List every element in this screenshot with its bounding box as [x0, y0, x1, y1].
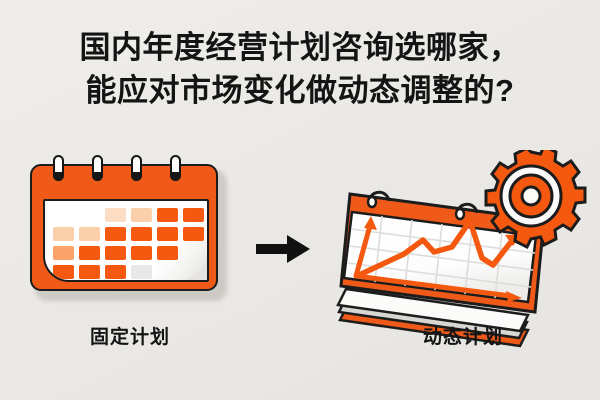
calendar-day-cell	[79, 246, 100, 260]
dynamic-calendar-chart-icon	[330, 150, 592, 350]
headline-line-2: 能应对市场变化做动态调整的?	[0, 69, 600, 112]
calendar-day-cell	[157, 246, 178, 260]
page-title: 国内年度经营计划咨询选哪家， 能应对市场变化做动态调整的?	[0, 26, 600, 112]
gear-icon	[486, 150, 585, 247]
poster-canvas: 国内年度经营计划咨询选哪家， 能应对市场变化做动态调整的? 固定计划	[0, 0, 600, 400]
calendar-day-cell	[79, 265, 100, 279]
calendar-day-cell	[157, 227, 178, 241]
calendar-body	[30, 164, 218, 291]
calendar-day-cell	[105, 265, 126, 279]
fixed-calendar-icon	[30, 164, 222, 295]
right-arrow-icon	[256, 232, 312, 266]
calendar-ring-4	[170, 155, 181, 181]
calendar-day-cell	[131, 265, 152, 279]
calendar-day-cell	[131, 227, 152, 241]
calendar-day-cell	[157, 208, 178, 222]
calendar-day-cell	[183, 227, 204, 241]
calendar-day-cell	[79, 227, 100, 241]
gear-hub	[522, 187, 540, 205]
calendar-day-cell	[131, 208, 152, 222]
dynamic-plan-caption: 动态计划	[348, 322, 578, 349]
calendar-day-cell	[183, 208, 204, 222]
calendar-day-cell	[105, 227, 126, 241]
calendar-day-cell	[53, 227, 74, 241]
calendar-page	[43, 199, 209, 282]
calendar-day-cell	[105, 246, 126, 260]
headline-line-1: 国内年度经营计划咨询选哪家，	[0, 26, 600, 69]
calendar-ring-1	[53, 155, 64, 181]
calendar-day-cell	[53, 246, 74, 260]
calendar-ring-2	[92, 155, 103, 181]
calendar-day-grid	[45, 201, 209, 282]
calendar-day-cell	[105, 208, 126, 222]
calendar-day-cell	[131, 246, 152, 260]
calendar-ring-3	[131, 155, 142, 181]
fixed-plan-caption: 固定计划	[17, 322, 243, 349]
calendar-day-cell	[53, 265, 74, 279]
